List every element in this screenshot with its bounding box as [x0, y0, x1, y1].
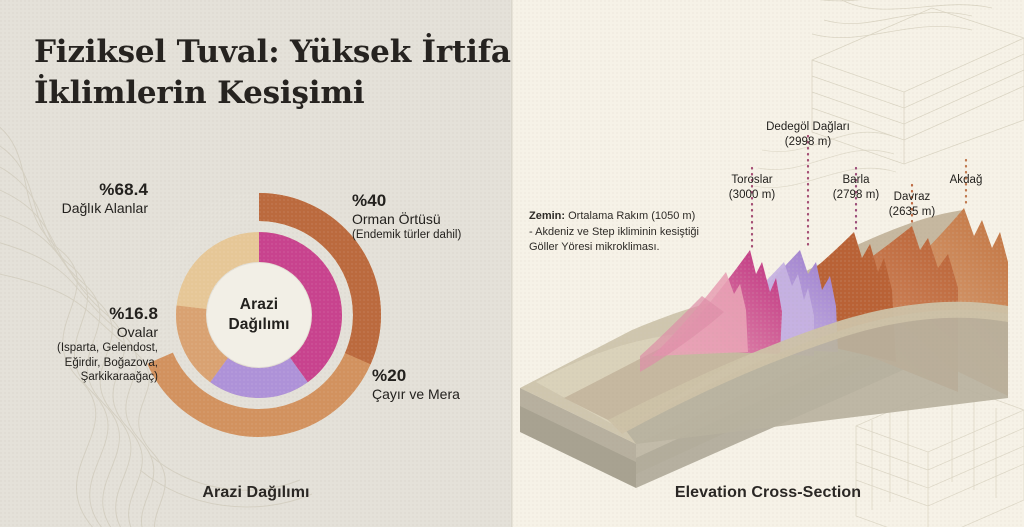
callout-name: Orman Örtüsü — [352, 211, 512, 228]
callout-sublabel: (Endemik türler dahil) — [352, 228, 512, 242]
title-line-1: Fiziksel Tuval: Yüksek İrtifa ve — [34, 32, 512, 73]
callout-name: Dağlık Alanlar — [14, 200, 148, 217]
peak-label-davraz: Davraz (2635 m) — [873, 190, 951, 219]
donut-center-line-2: Dağılımı — [199, 315, 319, 335]
page-title: Fiziksel Tuval: Yüksek İrtifa ve İklimle… — [34, 32, 512, 114]
panel-divider — [511, 0, 513, 527]
peak-name: Barla — [816, 173, 896, 188]
peak-name: Toroslar — [709, 173, 795, 188]
peak-label-dedegol: Dedegöl Dağları (2998 m) — [748, 120, 868, 149]
right-panel-caption: Elevation Cross-Section — [512, 484, 1024, 502]
callout-mountain-areas: %68.4 Dağlık Alanlar — [14, 180, 148, 217]
infographic-canvas: Fiziksel Tuval: Yüksek İrtifa ve İklimle… — [0, 0, 1024, 527]
peak-label-akdag: Akdağ — [932, 173, 1000, 188]
callout-percent: %16.8 — [0, 304, 158, 324]
peak-elevation: (2998 m) — [748, 135, 868, 150]
terrain-cross-section-icon — [512, 0, 1024, 527]
peak-label-toroslar: Toroslar (3000 m) — [709, 173, 795, 202]
title-line-2: İklimlerin Kesişimi — [34, 73, 512, 114]
peak-name: Akdağ — [932, 173, 1000, 188]
ground-note: Zemin: Ortalama Rakım (1050 m) - Akdeniz… — [529, 209, 699, 256]
ground-note-label: Zemin: — [529, 210, 565, 222]
callout-sublabel: (Isparta, Gelendost, Eğirdir, Boğazova, … — [0, 341, 158, 384]
donut-chart[interactable]: Arazi Dağılımı — [130, 186, 388, 444]
donut-center-line-1: Arazi — [199, 295, 319, 315]
callout-percent: %40 — [352, 191, 512, 211]
donut-center-label: Arazi Dağılımı — [199, 295, 319, 335]
callout-plains: %16.8 Ovalar (Isparta, Gelendost, Eğirdi… — [0, 304, 158, 384]
callout-percent: %68.4 — [14, 180, 148, 200]
peak-name: Dedegöl Dağları — [748, 120, 868, 135]
callout-forest-cover: %40 Orman Örtüsü (Endemik türler dahil) — [352, 191, 512, 243]
callout-name: Ovalar — [0, 324, 158, 341]
callout-percent: %20 — [372, 366, 512, 386]
callout-name: Çayır ve Mera — [372, 386, 512, 403]
left-panel-caption: Arazi Dağılımı — [0, 484, 512, 502]
peak-elevation: (2635 m) — [873, 205, 951, 220]
right-panel: Toroslar (3000 m) Dedegöl Dağları (2998 … — [512, 0, 1024, 527]
peak-elevation: (3000 m) — [709, 188, 795, 203]
left-panel: Fiziksel Tuval: Yüksek İrtifa ve İklimle… — [0, 0, 512, 527]
callout-meadow-pasture: %20 Çayır ve Mera — [372, 366, 512, 403]
peak-name: Davraz — [873, 190, 951, 205]
